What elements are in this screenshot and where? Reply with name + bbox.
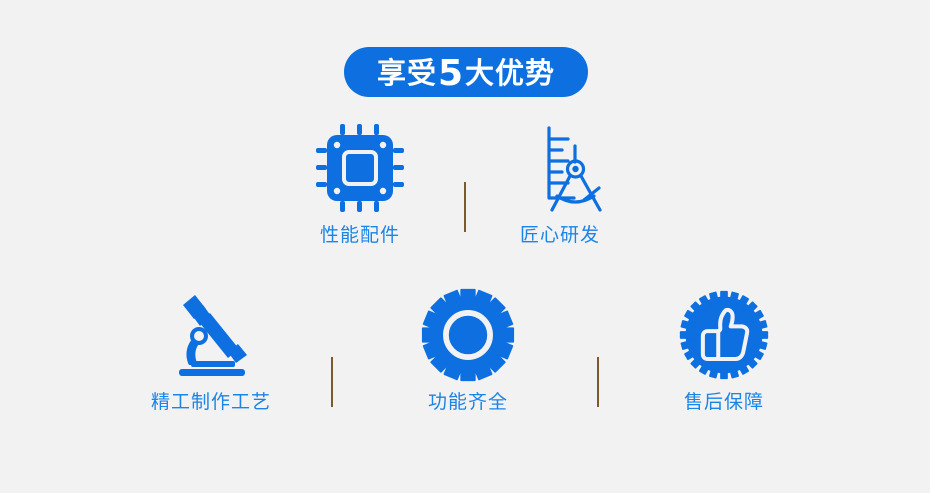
advantages-banner-stage: 享受5大优势: [0, 0, 930, 493]
thumbs-up-badge-icon-box: [649, 285, 799, 385]
title-text: 享受5大优势: [377, 54, 555, 90]
title-suffix: 大优势: [465, 59, 555, 88]
feature-item-precision-manufacturing[interactable]: 精工制作工艺: [136, 285, 286, 414]
microscope-icon: [165, 289, 257, 381]
title-prefix: 享受: [377, 59, 437, 88]
cpu-chip-icon-box: [285, 118, 435, 218]
thumbs-up-badge-icon: [676, 287, 772, 383]
feature-item-after-sales-support[interactable]: 售后保障: [649, 285, 799, 414]
title-number: 5: [437, 56, 465, 92]
feature-item-craftsmanship-rnd[interactable]: 匠心研发: [485, 118, 635, 247]
gear-icon-box: [393, 285, 543, 385]
ruler-compass-icon: [512, 120, 608, 216]
ruler-compass-icon-box: [485, 118, 635, 218]
cpu-chip-icon: [314, 122, 406, 214]
feature-label-after-sales-support: 售后保障: [649, 391, 799, 414]
divider-row2-right: [597, 357, 599, 407]
divider-row1: [464, 182, 466, 232]
feature-label-craftsmanship-rnd: 匠心研发: [485, 224, 635, 247]
divider-row2-left: [331, 357, 333, 407]
microscope-icon-box: [136, 285, 286, 385]
feature-item-performance-parts[interactable]: 性能配件: [285, 118, 435, 247]
gear-icon: [420, 287, 516, 383]
feature-label-precision-manufacturing: 精工制作工艺: [136, 391, 286, 414]
title-banner: 享受5大优势: [344, 47, 588, 97]
feature-label-performance-parts: 性能配件: [285, 224, 435, 247]
feature-label-full-functionality: 功能齐全: [393, 391, 543, 414]
feature-item-full-functionality[interactable]: 功能齐全: [393, 285, 543, 414]
